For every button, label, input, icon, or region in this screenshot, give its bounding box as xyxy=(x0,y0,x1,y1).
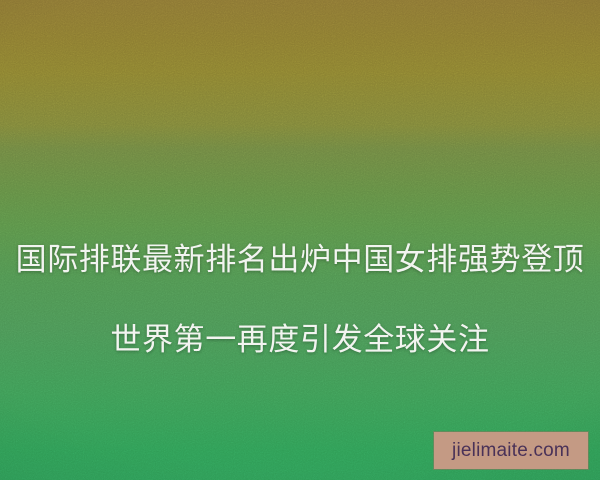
headline-line-1: 国际排联最新排名出炉中国女排强势登顶 xyxy=(14,240,586,280)
watermark-text: jielimaite.com xyxy=(452,441,570,460)
poster-image: 国际排联最新排名出炉中国女排强势登顶 世界第一再度引发全球关注 jielimai… xyxy=(0,0,600,480)
watermark-badge: jielimaite.com xyxy=(434,432,588,469)
page-title: 国际排联最新排名出炉中国女排强势登顶 世界第一再度引发全球关注 xyxy=(0,200,600,400)
headline-line-2: 世界第一再度引发全球关注 xyxy=(14,320,586,360)
